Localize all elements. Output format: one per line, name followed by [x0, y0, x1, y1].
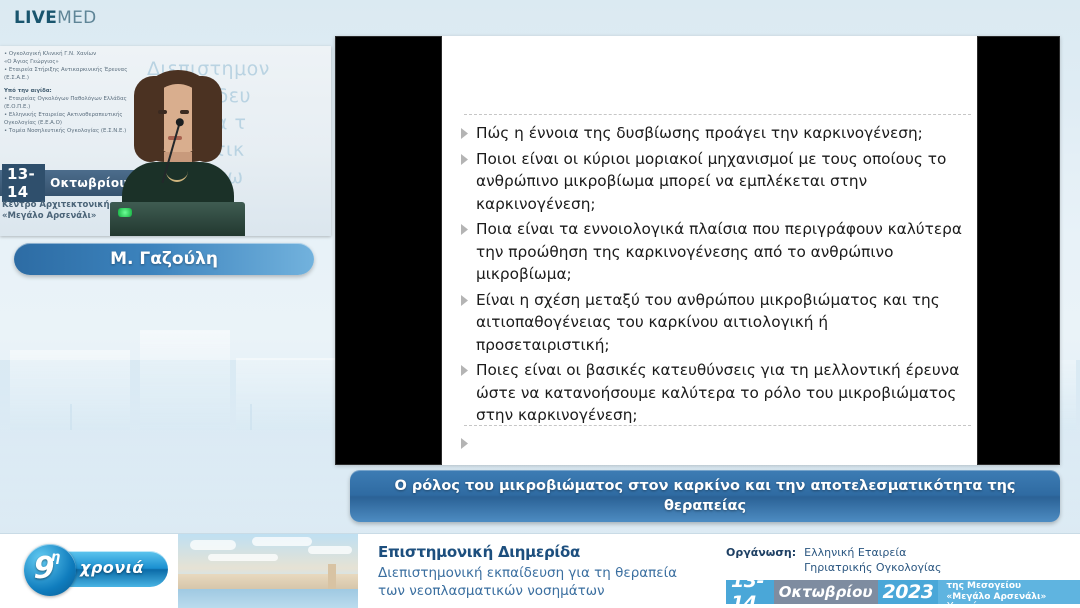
speaker-eye-left	[158, 110, 167, 114]
venue-line1: Κέντρο Αρχιτεκτονικής της Μεσογείου	[946, 571, 1074, 591]
event-venue: Κέντρο Αρχιτεκτονικής της Μεσογείου «Μεγ…	[938, 580, 1080, 604]
list-item: Ποιοι είναι οι κύριοι μοριακοί μηχανισμο…	[460, 148, 963, 216]
bullet-arrow-icon	[460, 434, 476, 453]
speaker-name-badge: Μ. Γαζούλη	[14, 243, 314, 275]
backdrop-date-day: 13-14	[2, 164, 45, 202]
bullet-arrow-icon	[460, 218, 476, 235]
podium-led-icon	[118, 208, 132, 217]
year-badge-superscript: η	[51, 550, 60, 565]
year-badge-number: 9	[18, 549, 70, 589]
slide-divider-bottom	[464, 425, 971, 426]
list-item: Είναι η σχέση μεταξύ του ανθρώπου μικροβ…	[460, 289, 963, 357]
ninth-year-badge: χρονιά 9 η	[18, 544, 168, 594]
backdrop-line: • Εταιρείας Ογκολόγων Παθολόγων Ελλάδας	[4, 96, 127, 102]
organiser-value: Ελληνική Εταιρεία Γηριατρικής Ογκολογίας	[804, 545, 941, 575]
event-year: 2023	[878, 580, 939, 604]
event-date-strip: 13-14 Οκτωβρίου 2023 Κέντρο Αρχιτεκτονικ…	[726, 580, 1080, 604]
logo-med-text: MED	[57, 8, 96, 28]
speaker-hair-right	[192, 76, 222, 162]
harbour-water	[178, 589, 358, 608]
webcast-player: LIVEMED • Ογκολογική Κλινική Γ.Ν. Χανίων…	[0, 0, 1080, 608]
speaker-hair-left	[134, 76, 164, 162]
conference-footer-banner: χρονιά 9 η Επιστημονική Διημερίδα Διεπισ…	[0, 533, 1080, 608]
conference-title-block: Επιστημονική Διημερίδα Διεπιστημονική εκ…	[378, 543, 708, 600]
list-item: Ποιες είναι οι βασικές κατευθύνσεις για …	[460, 359, 963, 427]
backdrop-line: Ογκολογίας (Ε.Ε.Α.Ο)	[4, 120, 62, 126]
backdrop-line: • Ογκολογική Κλινική Γ.Ν. Χανίων	[4, 51, 96, 57]
bullet-text: Είναι η σχέση μεταξύ του ανθρώπου μικροβ…	[476, 289, 963, 357]
conference-subtitle: Διεπιστημονική εκπαίδευση για τη θεραπεί…	[378, 564, 708, 600]
conference-subtitle-line1: Διεπιστημονική εκπαίδευση για τη θεραπεί…	[378, 564, 708, 582]
slide-bullet-list: Πώς η έννοια της δυσβίωσης προάγει την κ…	[460, 122, 963, 430]
logo-live-text: LIVE	[14, 8, 57, 28]
presentation-title-banner: Ο ρόλος του μικροβιώματος στον καρκίνο κ…	[350, 470, 1060, 522]
speaker-eye-right	[180, 110, 189, 114]
backdrop-line: • Εταιρεία Στήριξης Αντικαρκινικής Έρευν…	[4, 67, 127, 73]
bullet-text: Ποιες είναι οι βασικές κατευθύνσεις για …	[476, 359, 963, 427]
year-badge-word: χρονιά	[80, 558, 166, 577]
slide-letterbox-left	[335, 36, 442, 465]
bullet-arrow-icon	[460, 148, 476, 165]
slide-letterbox-right	[977, 36, 1060, 465]
venue-city: Χανιά	[946, 600, 978, 608]
speaker-video-feed[interactable]: • Ογκολογική Κλινική Γ.Ν. Χανίων «Ο Άγιο…	[0, 46, 331, 236]
backdrop-line: • Τομέα Νοσηλευτικής Ογκολογίας (Ε.Σ.Ν.Ε…	[4, 128, 126, 134]
backdrop-line: (Ε.Σ.Α.Ε.)	[4, 75, 29, 81]
organiser-line2: Γηριατρικής Ογκολογίας	[804, 560, 941, 575]
bullet-arrow-icon	[460, 289, 476, 306]
backdrop-line: (Ε.Ο.Π.Ε.)	[4, 104, 30, 110]
bullet-arrow-icon	[460, 122, 476, 139]
venue-line2: «Μεγάλο Αρσενάλι» Χανιά	[946, 592, 1074, 608]
slide-content: Πώς η έννοια της δυσβίωσης προάγει την κ…	[442, 36, 977, 465]
backdrop-line: • Ελληνικής Εταιρείας Ακτινοθεραπευτικής	[4, 112, 123, 118]
chania-harbour-thumbnail	[178, 534, 358, 608]
organiser-line1: Ελληνική Εταιρεία	[804, 545, 941, 560]
lighthouse	[328, 564, 336, 592]
presentation-title-text: Ο ρόλος του μικροβιώματος στον καρκίνο κ…	[372, 476, 1038, 516]
bullet-text: Ποιοι είναι οι κύριοι μοριακοί μηχανισμο…	[476, 148, 963, 216]
podium	[110, 202, 245, 236]
speaker-figure	[118, 66, 238, 216]
slide-divider-top	[464, 114, 971, 115]
conference-subtitle-line2: των νεοπλασματικών νοσημάτων	[378, 582, 708, 600]
backdrop-line: «Ο Άγιος Γεώργιος»	[4, 59, 59, 65]
event-days: 13-14	[726, 580, 774, 604]
bullet-text: Πώς η έννοια της δυσβίωσης προάγει την κ…	[476, 122, 963, 145]
conference-heading: Επιστημονική Διημερίδα	[378, 543, 708, 562]
backdrop-date-month: Οκτωβρίου	[50, 176, 128, 190]
bullet-arrow-icon	[460, 359, 476, 376]
presentation-slide[interactable]: Πώς η έννοια της δυσβίωσης προάγει την κ…	[335, 36, 1060, 465]
event-month: Οκτωβρίου	[774, 580, 878, 604]
speaker-name-label: Μ. Γαζούλη	[110, 249, 218, 269]
list-item: Πώς η έννοια της δυσβίωσης προάγει την κ…	[460, 122, 963, 145]
list-item: Ποια είναι τα εννοιολογικά πλαίσια που π…	[460, 218, 963, 286]
bullet-text: Ποια είναι τα εννοιολογικά πλαίσια που π…	[476, 218, 963, 286]
livemed-logo: LIVEMED	[14, 8, 97, 28]
